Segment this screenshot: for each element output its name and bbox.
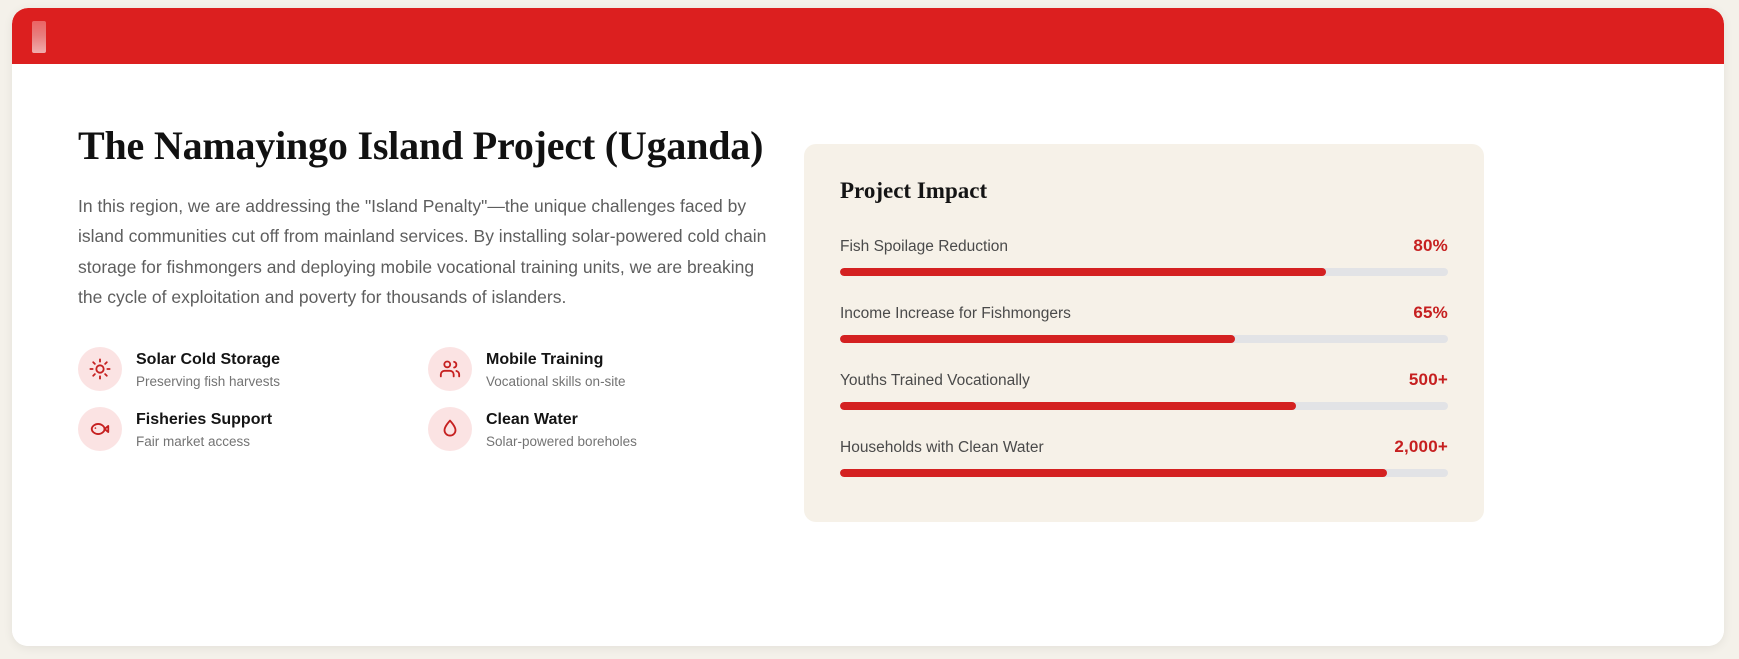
feature-text: Mobile Training Vocational skills on-sit… [486, 347, 626, 391]
left-column: The Namayingo Island Project (Uganda) In… [78, 124, 778, 451]
feature-item-mobile-training[interactable]: Mobile Training Vocational skills on-sit… [428, 347, 778, 391]
main-card: The Namayingo Island Project (Uganda) In… [12, 8, 1724, 646]
project-impact-panel: Project Impact Fish Spoilage Reduction 8… [804, 144, 1484, 522]
metric-row: Fish Spoilage Reduction 80% [840, 236, 1448, 276]
metric-progress-track [840, 469, 1448, 477]
metric-header: Households with Clean Water 2,000+ [840, 437, 1448, 457]
users-icon [428, 347, 472, 391]
metric-progress-fill [840, 335, 1235, 343]
feature-subtitle: Solar-powered boreholes [486, 433, 637, 451]
feature-text: Clean Water Solar-powered boreholes [486, 407, 637, 451]
metric-header: Youths Trained Vocationally 500+ [840, 370, 1448, 390]
feature-item-solar-cold-storage[interactable]: Solar Cold Storage Preserving fish harve… [78, 347, 428, 391]
metric-value: 2,000+ [1394, 437, 1448, 457]
metric-row: Income Increase for Fishmongers 65% [840, 303, 1448, 343]
metric-label: Income Increase for Fishmongers [840, 305, 1071, 323]
feature-title: Solar Cold Storage [136, 350, 280, 370]
metric-value: 500+ [1409, 370, 1448, 390]
metric-progress-track [840, 268, 1448, 276]
page-title: The Namayingo Island Project (Uganda) [78, 124, 778, 169]
feature-text: Solar Cold Storage Preserving fish harve… [136, 347, 280, 391]
impact-panel-title: Project Impact [840, 178, 987, 204]
logo-placeholder-icon[interactable] [32, 21, 46, 53]
metric-row: Youths Trained Vocationally 500+ [840, 370, 1448, 410]
metric-progress-fill [840, 402, 1296, 410]
metric-label: Fish Spoilage Reduction [840, 238, 1008, 256]
feature-title: Mobile Training [486, 350, 626, 370]
feature-subtitle: Preserving fish harvests [136, 373, 280, 391]
metric-label: Households with Clean Water [840, 439, 1044, 457]
fish-icon [78, 407, 122, 451]
metric-value: 65% [1413, 303, 1448, 323]
metric-progress-fill [840, 469, 1387, 477]
metric-progress-track [840, 402, 1448, 410]
feature-subtitle: Fair market access [136, 433, 272, 451]
metric-progress-track [840, 335, 1448, 343]
impact-metrics-list: Fish Spoilage Reduction 80% Income Incre… [840, 236, 1448, 477]
feature-list: Solar Cold Storage Preserving fish harve… [78, 347, 778, 451]
top-bar [12, 8, 1724, 64]
metric-row: Households with Clean Water 2,000+ [840, 437, 1448, 477]
metric-label: Youths Trained Vocationally [840, 372, 1030, 390]
metric-progress-fill [840, 268, 1326, 276]
feature-subtitle: Vocational skills on-site [486, 373, 626, 391]
sun-icon [78, 347, 122, 391]
water-drop-icon [428, 407, 472, 451]
content-area: The Namayingo Island Project (Uganda) In… [12, 64, 1724, 646]
page-root: The Namayingo Island Project (Uganda) In… [0, 0, 1739, 659]
metric-header: Fish Spoilage Reduction 80% [840, 236, 1448, 256]
metric-header: Income Increase for Fishmongers 65% [840, 303, 1448, 323]
feature-text: Fisheries Support Fair market access [136, 407, 272, 451]
page-description: In this region, we are addressing the "I… [78, 191, 768, 313]
feature-title: Fisheries Support [136, 410, 272, 430]
feature-item-fisheries-support[interactable]: Fisheries Support Fair market access [78, 407, 428, 451]
metric-value: 80% [1413, 236, 1448, 256]
feature-title: Clean Water [486, 410, 637, 430]
feature-item-clean-water[interactable]: Clean Water Solar-powered boreholes [428, 407, 778, 451]
